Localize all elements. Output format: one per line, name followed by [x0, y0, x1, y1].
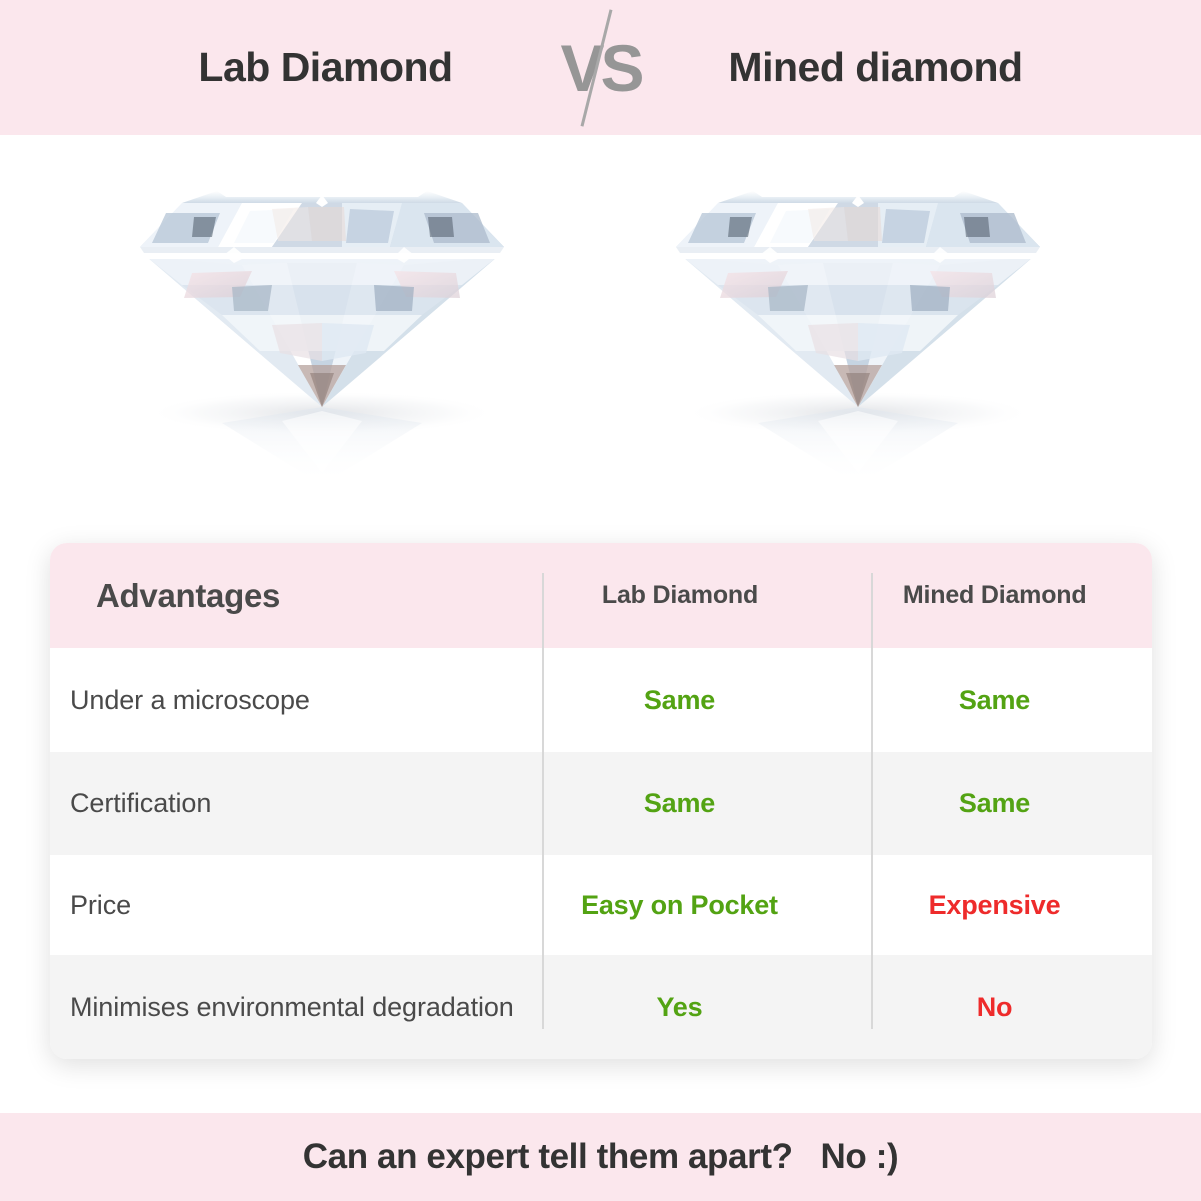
versus-badge: VS	[541, 0, 661, 135]
row-label-under-a-microscope: Under a microscope	[50, 682, 522, 718]
header-banner: Lab Diamond VS Mined diamond	[0, 0, 1201, 135]
cell-mined-under-a-microscope: Same	[837, 685, 1152, 716]
diamond-illustration-icon	[122, 155, 522, 485]
header-lab-diamond-title: Lab Diamond	[111, 44, 541, 91]
cell-mined-price: Expensive	[837, 890, 1152, 921]
comparison-table-card: Advantages Lab Diamond Mined Diamond Und…	[50, 543, 1152, 1059]
row-label-certification: Certification	[50, 785, 522, 821]
row-label-price: Price	[50, 887, 522, 923]
cell-lab-certification: Same	[522, 788, 837, 819]
cell-lab-under-a-microscope: Same	[522, 685, 837, 716]
footer-banner: Can an expert tell them apart? No :)	[0, 1113, 1201, 1201]
cell-lab-minimises-environmental-degradation: Yes	[522, 992, 837, 1023]
table-row: Minimises environmental degradation Yes …	[50, 955, 1152, 1059]
table-row: Certification Same Same	[50, 752, 1152, 855]
table-row: Under a microscope Same Same	[50, 648, 1152, 752]
column-header-advantages: Advantages	[50, 577, 523, 615]
cell-mined-minimises-environmental-degradation: No	[837, 992, 1152, 1023]
row-label-minimises-environmental-degradation: Minimises environmental degradation	[50, 989, 522, 1025]
diamond-image-stage	[0, 135, 1201, 535]
diamond-illustration-icon	[658, 155, 1058, 485]
column-divider-2	[871, 573, 873, 1029]
mined-diamond-image	[658, 155, 1058, 485]
table-row: Price Easy on Pocket Expensive	[50, 855, 1152, 955]
table-header-row: Advantages Lab Diamond Mined Diamond	[50, 543, 1152, 648]
header-mined-diamond-title: Mined diamond	[661, 44, 1091, 91]
cell-mined-certification: Same	[837, 788, 1152, 819]
column-header-lab-diamond: Lab Diamond	[523, 581, 838, 610]
cell-lab-price: Easy on Pocket	[522, 890, 837, 921]
header-row: Lab Diamond VS Mined diamond	[0, 0, 1201, 135]
column-divider-1	[542, 573, 544, 1029]
lab-diamond-image	[122, 155, 522, 485]
column-header-mined-diamond: Mined Diamond	[837, 581, 1152, 610]
footer-question-text: Can an expert tell them apart? No :)	[303, 1137, 898, 1177]
